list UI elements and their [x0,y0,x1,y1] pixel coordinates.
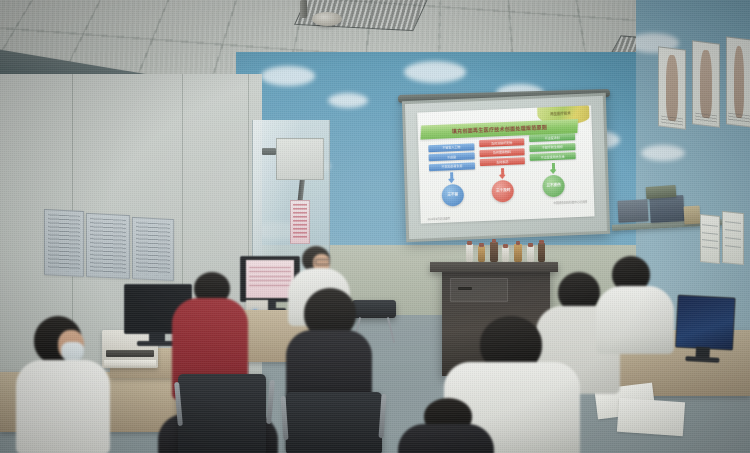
slide-ribbon: 及时清除坏死物 [479,139,524,148]
slide-column-green: 不过度清创 不破坏新生组织 不过度使用抗生素 三不损伤 [529,133,576,197]
binder [617,199,648,223]
slide-bubble: 三个及时 [492,179,515,202]
poster-caption-lines [661,115,684,126]
monitor-right[interactable] [674,295,733,364]
binder [649,195,684,223]
cabinet-top [430,262,558,272]
reagent-bottle [466,244,473,262]
pink-wall-notice [290,200,310,244]
anatomy-figure-icon [734,45,745,119]
presentation-slide: 再生医疗技术 填充创面再生医疗技术创面处理规范原则 不留置人工物 不感染 不增加… [417,106,595,224]
slide-footer-left: 2024年9月培训课件 [427,216,450,221]
slide-ribbon: 不留置人工物 [429,143,474,152]
slide-title-text: 填充创面再生医疗技术创面处理规范原则 [452,124,548,135]
wall-cabinet [276,138,324,180]
photo-scene: 再生医疗技术 填充创面再生医疗技术创面处理规范原则 不留置人工物 不感染 不增加… [0,0,750,453]
sprinkler-icon [300,0,307,18]
glass-clamp-icon [262,148,276,155]
wall-notice [86,213,130,279]
slide-ribbon: 不过度清创 [529,133,574,142]
reagent-bottle [502,247,509,262]
anatomy-poster [658,46,686,129]
slide-ribbon: 不过度使用抗生素 [530,152,575,161]
slide-arrow-icon [548,162,557,173]
reagent-bottle [538,243,545,262]
poster-caption-lines [728,113,749,124]
reagent-bottle [527,246,534,262]
cloud-shape [328,93,368,108]
person-front-silhouette [398,398,494,453]
binder [684,206,701,225]
slide-column-red: 及时清除坏死物 及时更换敷料 及时换药 三个及时 [479,139,526,203]
hanging-document [722,211,744,265]
slide-ribbon: 及时换药 [480,158,525,167]
chair[interactable] [286,392,382,453]
hanging-document [700,214,720,264]
slide-column-blue: 不留置人工物 不感染 不增加患者负担 三不留 [429,143,476,207]
anatomy-poster [692,40,720,127]
projection-screen: 再生医疗技术 填充创面再生医疗技术创面处理规范原则 不留置人工物 不感染 不增加… [402,93,610,242]
projection-screen-surface: 再生医疗技术 填充创面再生医疗技术创面处理规范原则 不留置人工物 不感染 不增加… [405,96,607,239]
smoke-detector-icon [312,12,342,26]
desk-paper [617,398,685,437]
anatomy-figure-icon [666,55,677,122]
reagent-bottle [514,244,522,262]
anatomy-figure-icon [700,49,711,119]
anatomy-poster [726,36,750,127]
wall-notice [132,217,174,281]
cloud-shape [641,145,685,161]
cloud-shape [404,61,466,83]
person-far-right [596,256,674,352]
poster-caption-lines [695,113,718,124]
binder [646,185,677,199]
slide-ribbon: 不感染 [429,152,474,161]
slide-arrow-icon [498,168,507,179]
slide-ribbon: 不破坏新生组织 [530,143,575,152]
slide-arrow-icon [448,172,457,183]
reagent-bottle [490,242,498,262]
slide-bubble: 三不损伤 [542,174,565,197]
wall-notice [44,209,84,277]
slide-footer-right: 中国烧伤创疡科技中心培训部 [553,199,587,204]
reagent-bottle [478,246,485,262]
chair[interactable] [178,374,266,453]
person-lab-coat [14,316,110,453]
slide-ribbon: 不增加患者负担 [429,162,474,171]
cloud-shape [261,66,315,86]
slide-ribbon: 及时更换敷料 [479,148,524,157]
slide-bubble: 三不留 [441,184,464,207]
slide-corner-graphic-label: 再生医疗技术 [550,111,570,117]
